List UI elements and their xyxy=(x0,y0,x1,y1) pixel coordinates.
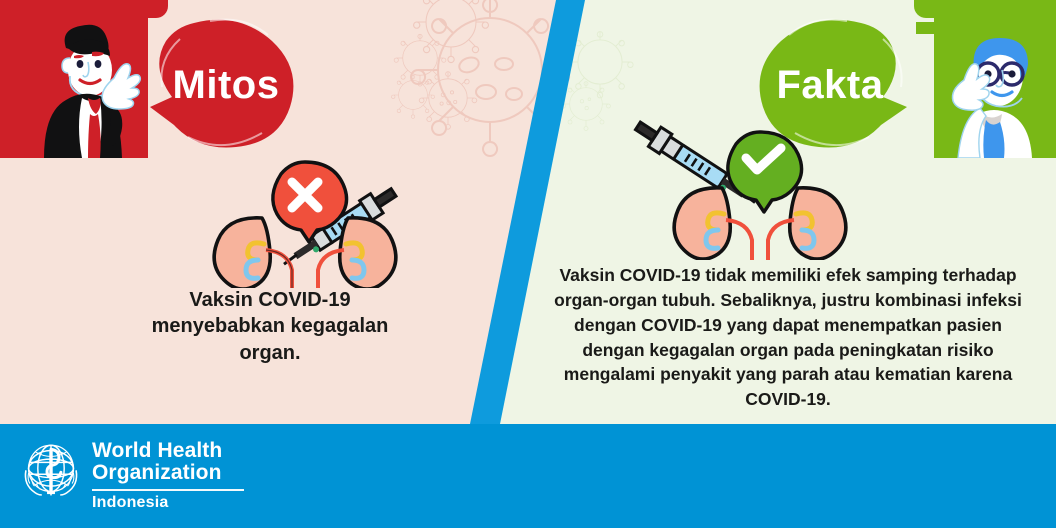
doctor-with-glasses-pointing-up-icon xyxy=(924,18,1052,158)
who-country-label: Indonesia xyxy=(92,494,244,512)
infographic-poster: Mitos Fakta xyxy=(0,0,1056,528)
myth-body-text: Vaksin COVID-19 menyebabkan kegagalan or… xyxy=(120,287,420,366)
kidneys-with-check-mark-and-syringe-icon xyxy=(620,110,860,260)
who-logo: World Health Organization Indonesia xyxy=(18,436,244,512)
myth-speech-bubble: Mitos xyxy=(152,25,300,145)
top-tab-green xyxy=(914,0,1056,18)
kidneys-with-x-mark-and-syringe-icon xyxy=(200,158,420,288)
who-name-line2: Organization xyxy=(92,462,244,484)
man-pointing-up-icon xyxy=(18,18,154,158)
who-name-line1: World Health xyxy=(92,440,244,462)
footer: World Health Organization Indonesia Orig… xyxy=(0,424,1056,528)
who-emblem-icon xyxy=(18,436,84,502)
who-wordmark: World Health Organization Indonesia xyxy=(92,436,244,512)
myth-bubble-label: Mitos xyxy=(173,63,280,108)
fact-bubble-label: Fakta xyxy=(777,63,884,108)
who-divider-rule xyxy=(92,489,244,491)
fact-body-text: Vaksin COVID-19 tidak memiliki efek samp… xyxy=(548,263,1028,412)
